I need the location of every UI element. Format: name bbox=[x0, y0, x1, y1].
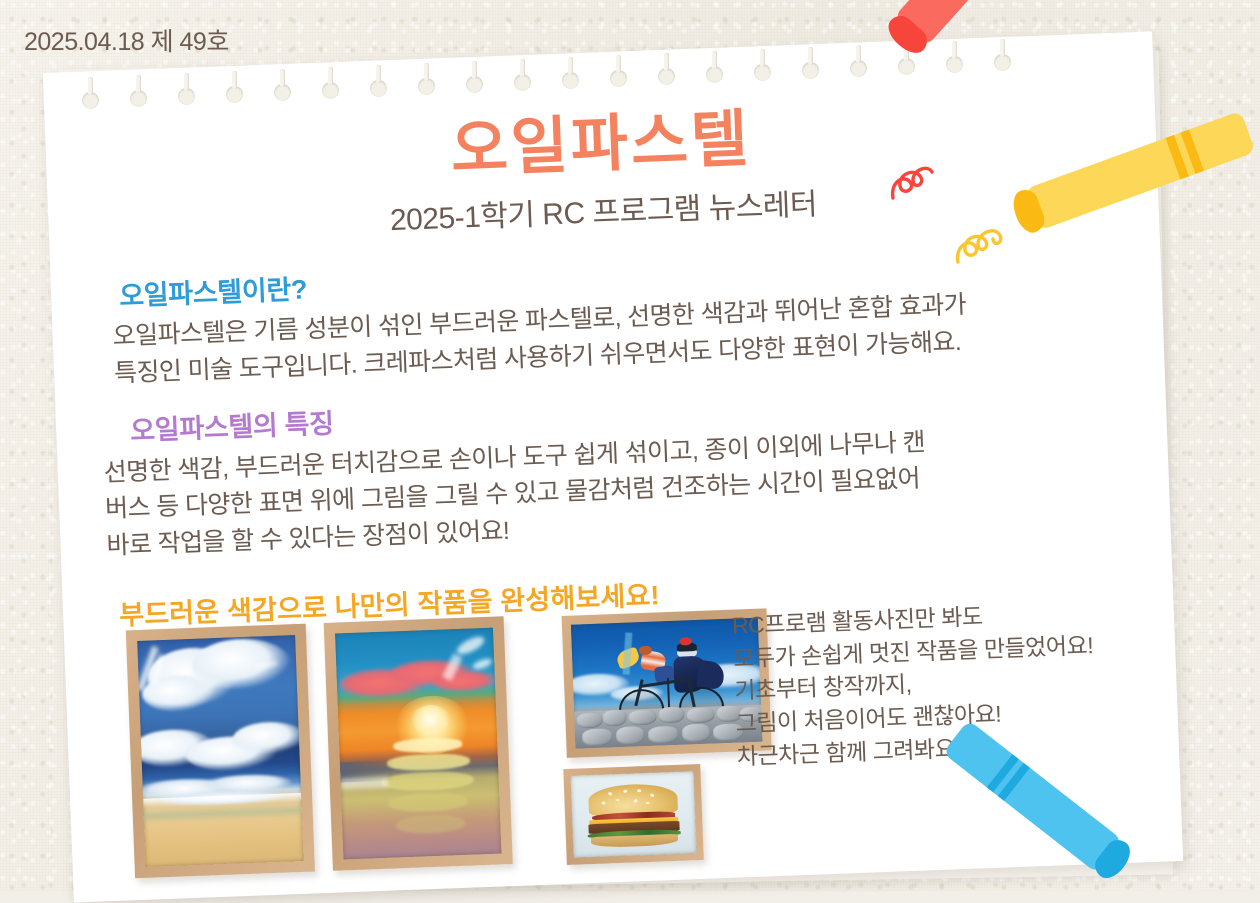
artwork-frame-burger bbox=[563, 764, 704, 865]
hamburger-painting bbox=[571, 771, 697, 858]
beach-seascape-painting bbox=[137, 635, 303, 867]
sunset-seascape-painting bbox=[335, 628, 501, 860]
yellow-scribble-icon bbox=[952, 196, 1038, 268]
issue-date-label: 2025.04.18 제 49호 bbox=[24, 22, 229, 58]
article-body: 오일파스텔이란? 오일파스텔은 기름 성분이 섞인 부드러운 파스텔로, 선명한… bbox=[97, 241, 1140, 634]
artwork-frame-sunset bbox=[324, 616, 513, 871]
section-features: 오일파스텔의 특징 선명한 색감, 부드러운 터치감으로 손이나 도구 쉽게 섞… bbox=[102, 376, 1137, 564]
artwork-frame-beach bbox=[126, 624, 315, 879]
